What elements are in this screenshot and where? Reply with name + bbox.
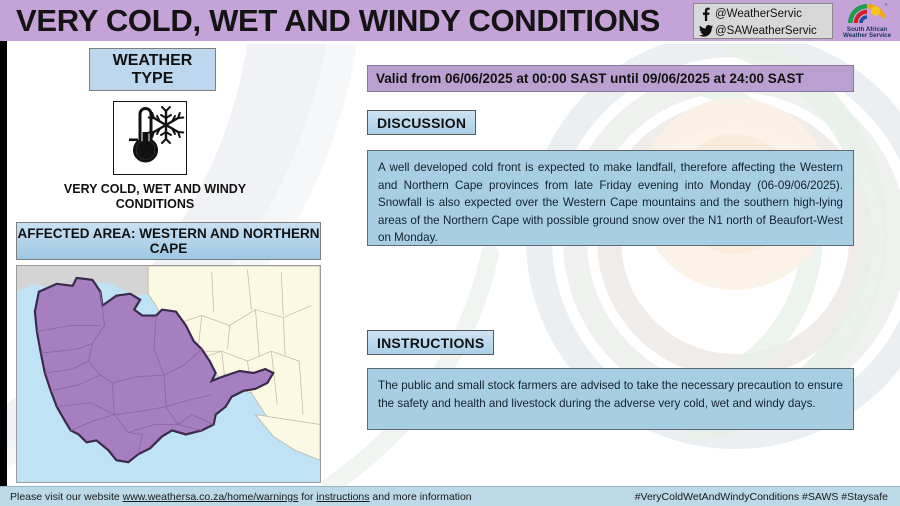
header-bar: VERY COLD, WET AND WINDY CONDITIONS @Wea…: [0, 0, 900, 41]
social-media-box: @WeatherServic @SAWeatherServic: [693, 3, 833, 39]
affected-area-map: [16, 265, 321, 483]
discussion-body: A well developed cold front is expected …: [367, 150, 854, 246]
instructions-heading: INSTRUCTIONS: [367, 330, 494, 355]
south-africa-provinces-map: [17, 266, 320, 482]
weather-type-heading: WEATHER TYPE: [89, 48, 216, 91]
left-black-edge: [0, 40, 7, 486]
footer-bar: Please visit our website www.weathersa.c…: [0, 486, 900, 506]
footer-hashtags: #VeryColdWetAndWindyConditions #SAWS #St…: [635, 487, 888, 506]
affected-area-heading: AFFECTED AREA: WESTERN AND NORTHERN CAPE: [16, 222, 321, 260]
validity-banner: Valid from 06/06/2025 at 00:00 SAST unti…: [367, 65, 854, 92]
instructions-link[interactable]: instructions: [316, 491, 369, 503]
twitter-icon: [698, 23, 713, 38]
saws-logo-text: South African Weather Service: [838, 27, 896, 40]
saws-logo: South African Weather Service: [838, 3, 896, 40]
weather-type-label: VERY COLD, WET AND WINDY CONDITIONS: [40, 182, 270, 212]
thermometer-snowflake-icon: [113, 101, 187, 175]
weather-warning-poster: VERY COLD, WET AND WINDY CONDITIONS @Wea…: [0, 0, 900, 506]
page-title: VERY COLD, WET AND WINDY CONDITIONS: [16, 0, 660, 41]
footer-prefix: Please visit our website: [10, 491, 123, 503]
instructions-body: The public and small stock farmers are a…: [367, 368, 854, 430]
facebook-row[interactable]: @WeatherServic: [698, 5, 832, 22]
twitter-row[interactable]: @SAWeatherServic: [698, 22, 832, 39]
saws-logo-line2: Weather Service: [843, 32, 891, 39]
footer-middle: for: [298, 491, 316, 503]
facebook-icon: [698, 6, 713, 21]
website-link[interactable]: www.weathersa.co.za/home/warnings: [123, 491, 299, 503]
footer-left-text: Please visit our website www.weathersa.c…: [10, 487, 472, 506]
twitter-handle: @SAWeatherServic: [715, 25, 817, 37]
facebook-handle: @WeatherServic: [715, 8, 802, 20]
footer-suffix: and more information: [370, 491, 472, 503]
discussion-heading: DISCUSSION: [367, 110, 476, 135]
